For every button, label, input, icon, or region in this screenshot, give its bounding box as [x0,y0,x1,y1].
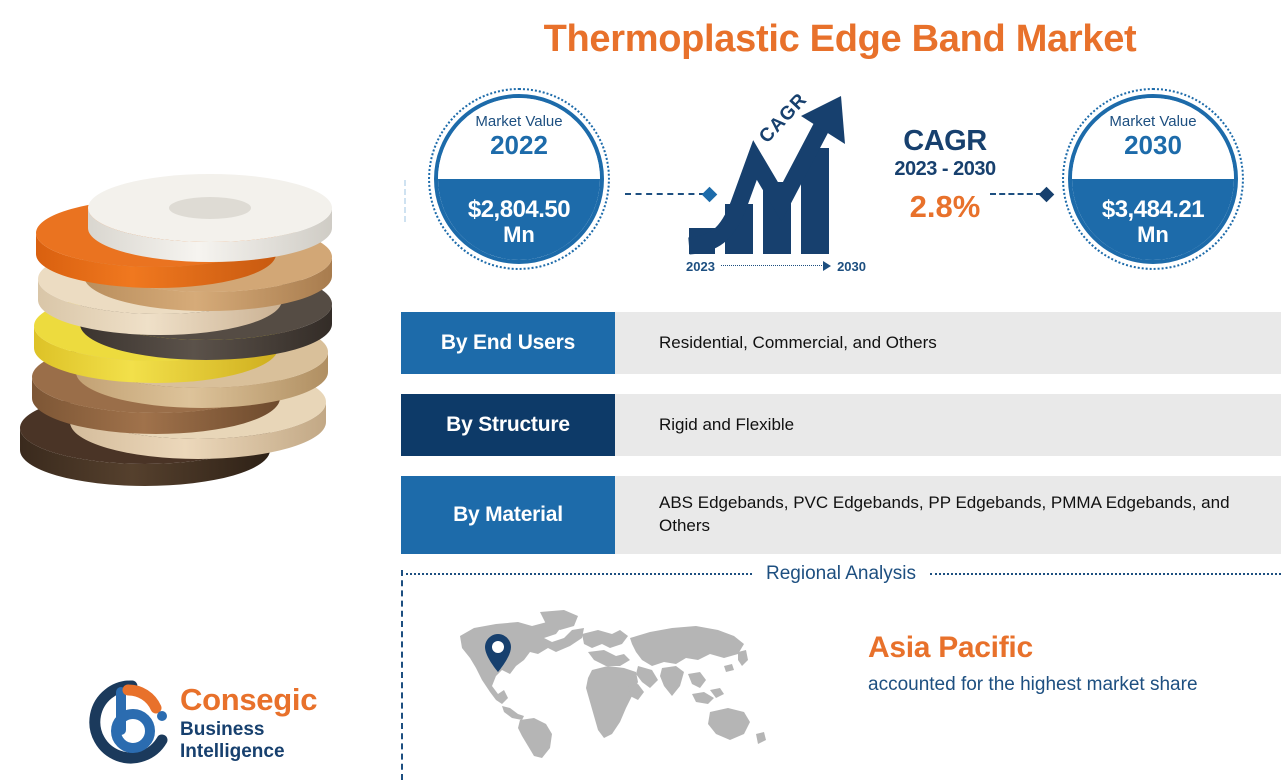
segment-label-material: By Material [401,476,615,554]
segment-row-end-users: By End Users Residential, Commercial, an… [401,312,1281,374]
segment-value-end-users: Residential, Commercial, and Others [615,312,1281,374]
market-value-amount-left: $2,804.50 [468,197,570,223]
growth-chart-icon: CAGR [683,86,873,276]
segment-row-structure: By Structure Rigid and Flexible [401,394,1281,456]
cagr-axis: 2023 2030 [686,256,866,276]
segment-value-structure: Rigid and Flexible [615,394,1281,456]
cagr-axis-start: 2023 [686,259,715,274]
market-value-circle-2030: Market Value 2030 $3,484.21 Mn [1062,88,1244,270]
logo-brand-name: Consegic [180,684,358,717]
market-value-unit-right: Mn [1137,223,1169,246]
company-logo[interactable]: Consegic Business Intelligence [88,676,358,768]
market-value-unit-left: Mn [503,223,535,246]
logo-tagline: Business Intelligence [180,719,358,765]
market-value-year-right: 2030 [1124,131,1182,161]
cagr-axis-end: 2030 [837,259,866,274]
infographic-page: Thermoplastic Edge Band Market Market Va… [0,0,1281,780]
cagr-summary: CAGR 2023 - 2030 2.8% [880,126,1010,231]
world-map-landmasses [460,610,766,758]
segment-value-material: ABS Edgebands, PVC Edgebands, PP Edgeban… [615,476,1281,554]
market-value-circle-2022: Market Value 2022 $2,804.50 Mn [428,88,610,270]
market-value-label-right: Market Value [1109,114,1196,131]
cagr-percent: 2.8% [880,183,1010,231]
top-divider-rail [404,180,406,222]
regional-highlight: Asia Pacific accounted for the highest m… [868,630,1268,698]
cagr-heading: CAGR [880,126,1010,156]
segment-label-end-users: By End Users [401,312,615,374]
axis-arrow-icon [721,261,831,271]
page-title: Thermoplastic Edge Band Market [400,18,1280,61]
cagr-icon-label: CAGR [755,89,811,147]
leading-region-name: Asia Pacific [868,630,1268,666]
diamond-marker-right [1039,187,1055,203]
edge-band-rolls-svg [10,150,390,510]
world-map [452,608,772,758]
segment-row-material: By Material ABS Edgebands, PVC Edgebands… [401,476,1281,554]
cagr-range: 2023 - 2030 [880,156,1010,183]
product-image [0,150,395,510]
segment-label-structure: By Structure [401,394,615,456]
logo-wordmark: Consegic Business Intelligence [180,684,358,764]
consegic-logo-mark [88,678,176,766]
edge-band-roll-stack [10,150,390,510]
market-value-year-left: 2022 [490,131,548,161]
leading-region-description: accounted for the highest market share [868,672,1268,698]
market-value-amount-right: $3,484.21 [1102,197,1204,223]
market-value-label-left: Market Value [475,114,562,131]
roll-white [88,174,332,262]
